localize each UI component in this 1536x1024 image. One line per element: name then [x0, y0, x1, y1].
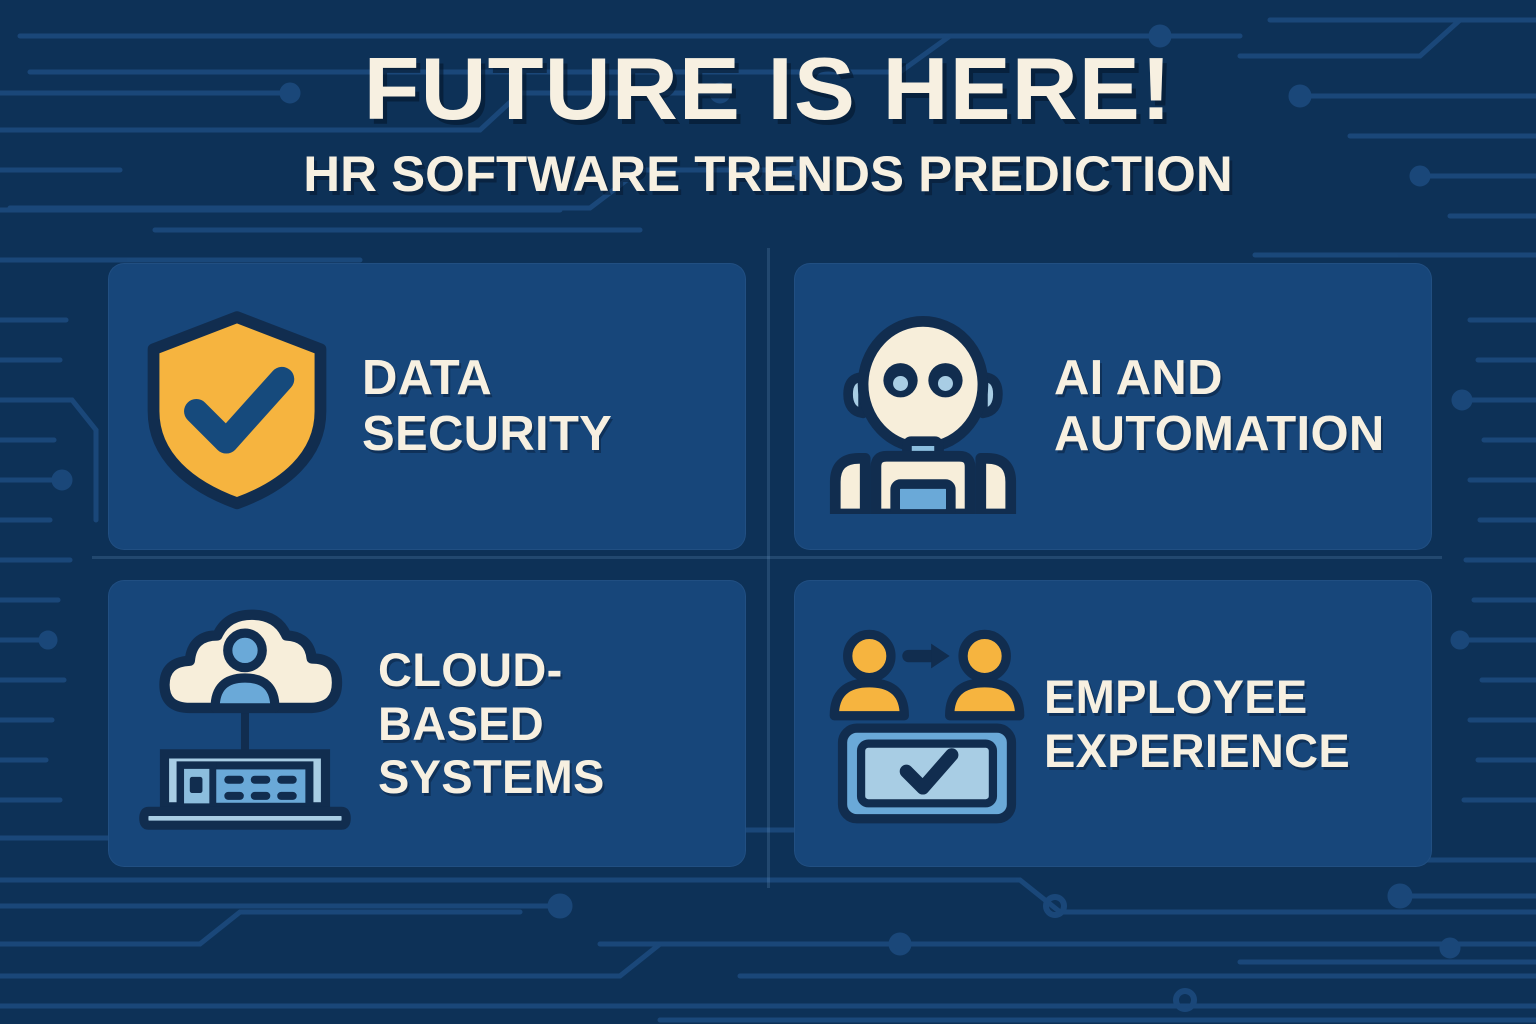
trend-card-data-security[interactable]: DATA SECURITY — [108, 263, 746, 550]
people-transition-screen-icon — [824, 621, 1030, 827]
header: FUTURE IS HERE! HR SOFTWARE TRENDS PREDI… — [0, 44, 1536, 200]
trends-card-grid: DATA SECURITY — [108, 263, 1432, 867]
page-subtitle: HR SOFTWARE TRENDS PREDICTION — [0, 148, 1536, 201]
trend-card-label: DATA SECURITY — [362, 351, 720, 463]
page-title: FUTURE IS HERE! — [0, 44, 1536, 134]
robot-icon — [816, 300, 1030, 514]
trend-card-label: EMPLOYEE EXPERIENCE — [1044, 670, 1406, 777]
trend-card-label: AI AND AUTOMATION — [1054, 351, 1406, 463]
trend-card-label: CLOUD-BASED SYSTEMS — [378, 643, 720, 804]
infographic-canvas: FUTURE IS HERE! HR SOFTWARE TRENDS PREDI… — [0, 0, 1536, 1024]
trend-card-cloud-based-systems[interactable]: CLOUD-BASED SYSTEMS — [108, 580, 746, 867]
cloud-user-laptop-icon — [130, 609, 360, 839]
shield-check-icon — [130, 300, 344, 514]
trend-card-employee-experience[interactable]: EMPLOYEE EXPERIENCE — [794, 580, 1432, 867]
trend-card-ai-automation[interactable]: AI AND AUTOMATION — [794, 263, 1432, 550]
